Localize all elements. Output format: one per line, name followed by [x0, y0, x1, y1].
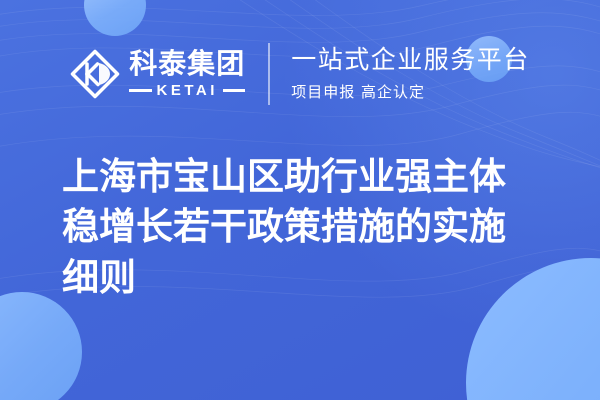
tagline-secondary: 项目申报 高企认定	[291, 81, 530, 102]
bottom-left-circle-decoration	[0, 292, 82, 400]
banner-header: 科泰集团 KETAI 一站式企业服务平台 项目申报 高企认定	[0, 34, 600, 114]
page-title: 上海市宝山区助行业强主体稳增长若干政策措施的实施细则	[62, 152, 540, 303]
tagline-block: 一站式企业服务平台 项目申报 高企认定	[291, 46, 530, 103]
brand-name-cn: 科泰集团	[129, 50, 245, 78]
ketai-diamond-kd-logo-icon	[70, 49, 120, 99]
brand-name-en-row: KETAI	[129, 83, 245, 98]
promo-banner: 科泰集团 KETAI 一站式企业服务平台 项目申报 高企认定 上海市宝山区助行业…	[0, 0, 600, 400]
top-left-circle-decoration	[84, 0, 146, 36]
brand-wordmark: 科泰集团 KETAI	[129, 50, 245, 98]
header-divider	[268, 43, 270, 105]
brand-name-en: KETAI	[157, 83, 218, 98]
brand-logo: 科泰集团 KETAI	[70, 49, 245, 99]
tagline-primary: 一站式企业服务平台	[291, 46, 530, 75]
wordmark-rule-right	[223, 89, 245, 92]
wordmark-rule-left	[129, 89, 151, 92]
